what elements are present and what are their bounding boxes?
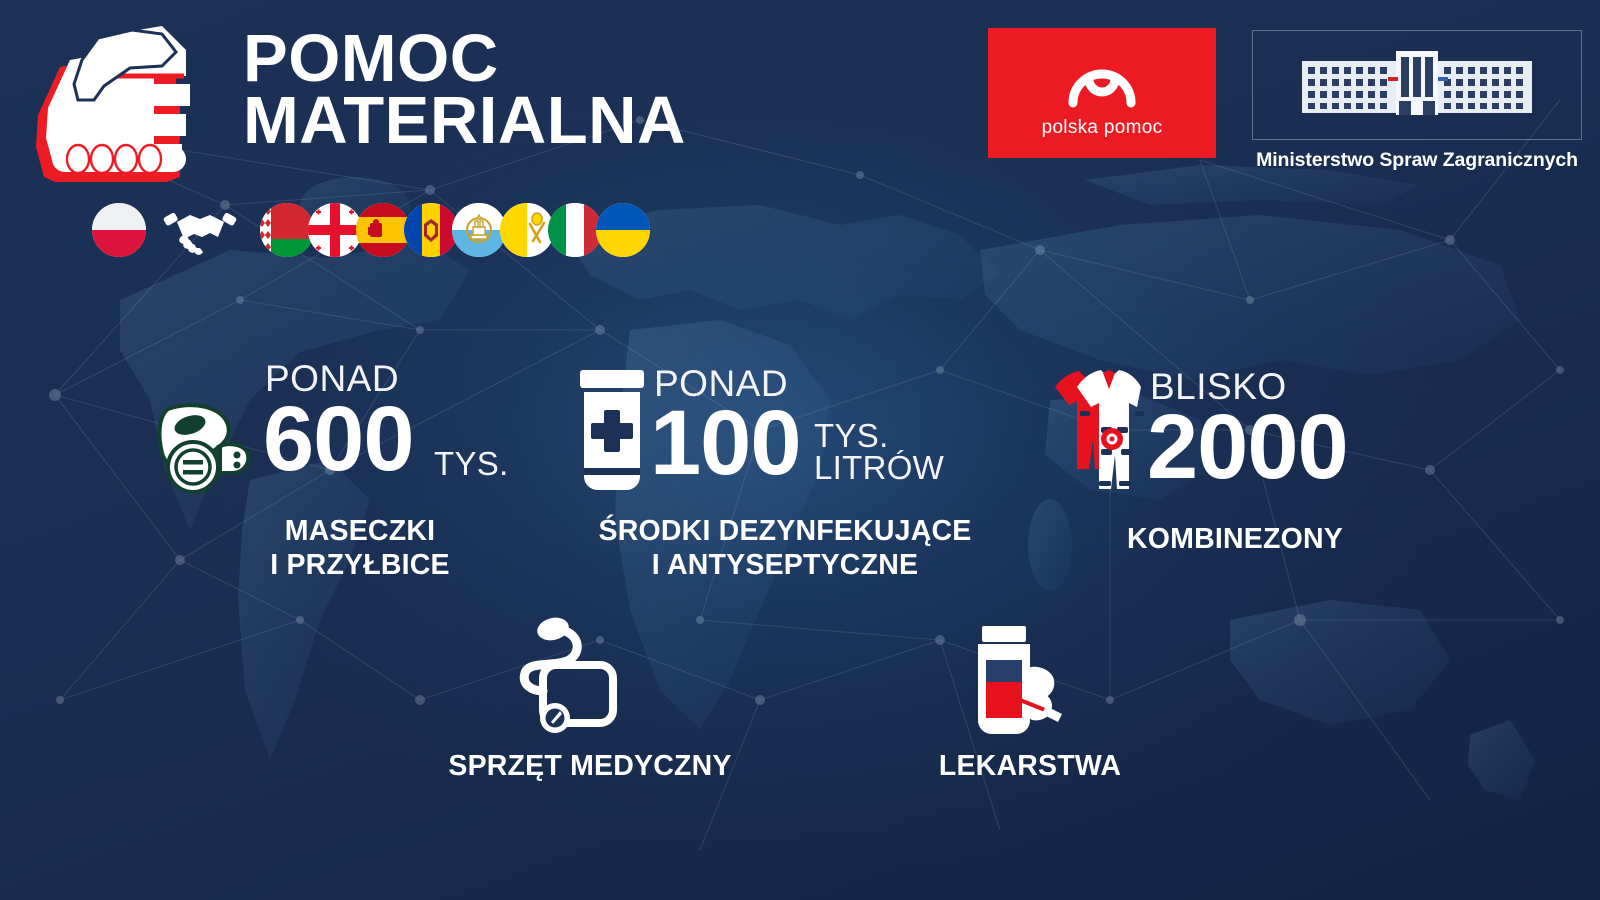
hazmat-coverall-icon [1035,365,1150,500]
stat-medical-equipment-label: SPRZĘT MEDYCZNY [400,750,780,784]
flag-belarus [260,203,314,257]
polska-pomoc-label: polska pomoc [1042,117,1163,139]
flag-georgia [308,203,362,257]
stat-masks: PONAD 600 TYS. MASECZKI I PRZYŁBICE [150,360,570,590]
polska-pomoc-mark-icon [1065,47,1139,111]
ministry-logo: Ministerstwo Spraw Zagranicznych [1252,30,1582,172]
disinfectant-tube-icon [564,370,664,495]
flags-row [92,203,650,257]
stat-medicines: LEKARSTWA [880,615,1180,800]
blood-pressure-monitor-icon [505,615,630,740]
stat-medical-equipment: SPRZĘT MEDYCZNY [400,615,780,800]
flag-spain [356,203,410,257]
infographic-canvas: POMOC MATERIALNA polska pomoc [0,0,1600,900]
header: POMOC MATERIALNA polska pomoc [0,0,1600,190]
flag-ukraine [596,203,650,257]
stat-coveralls-value: 2000 [1147,408,1348,487]
stat-masks-unit: TYS. [434,448,509,479]
medicine-vial-icon [960,620,1075,740]
handshake-icon [162,203,238,257]
ministry-building-icon [1292,45,1542,125]
stat-disinfectant: PONAD 100 TYS. LITRÓW ŚRODKI DEZYNFEKUJĄ… [550,360,1020,590]
ministry-label: Ministerstwo Spraw Zagranicznych [1252,149,1582,172]
stat-coveralls: BLISKO 2000 KOMBINEZONY [1035,360,1435,570]
stat-medicines-label: LEKARSTWA [880,750,1180,784]
flag-poland [92,203,146,257]
respirator-mask-icon [150,395,260,500]
stat-disinfectant-value: 100 [650,404,801,483]
ministry-building-frame [1252,30,1582,140]
page-title: POMOC MATERIALNA [243,28,686,151]
stat-disinfectant-unit2: LITRÓW [814,452,944,483]
stat-masks-label: MASECZKI I PRZYŁBICE [150,515,570,582]
flag-vatican [500,203,554,257]
recipient-flags [260,203,650,257]
stat-coveralls-label: KOMBINEZONY [1035,523,1435,557]
helping-hands-logo-icon [34,22,204,182]
polska-pomoc-logo: polska pomoc [988,28,1216,158]
stat-disinfectant-label: ŚRODKI DEZYNFEKUJĄCE I ANTYSEPTYCZNE [550,515,1020,582]
stat-masks-value: 600 [263,400,414,479]
flag-san-marino [452,203,506,257]
stat-disinfectant-unit: TYS. [814,420,889,451]
flag-italy [548,203,602,257]
flag-moldova [404,203,458,257]
